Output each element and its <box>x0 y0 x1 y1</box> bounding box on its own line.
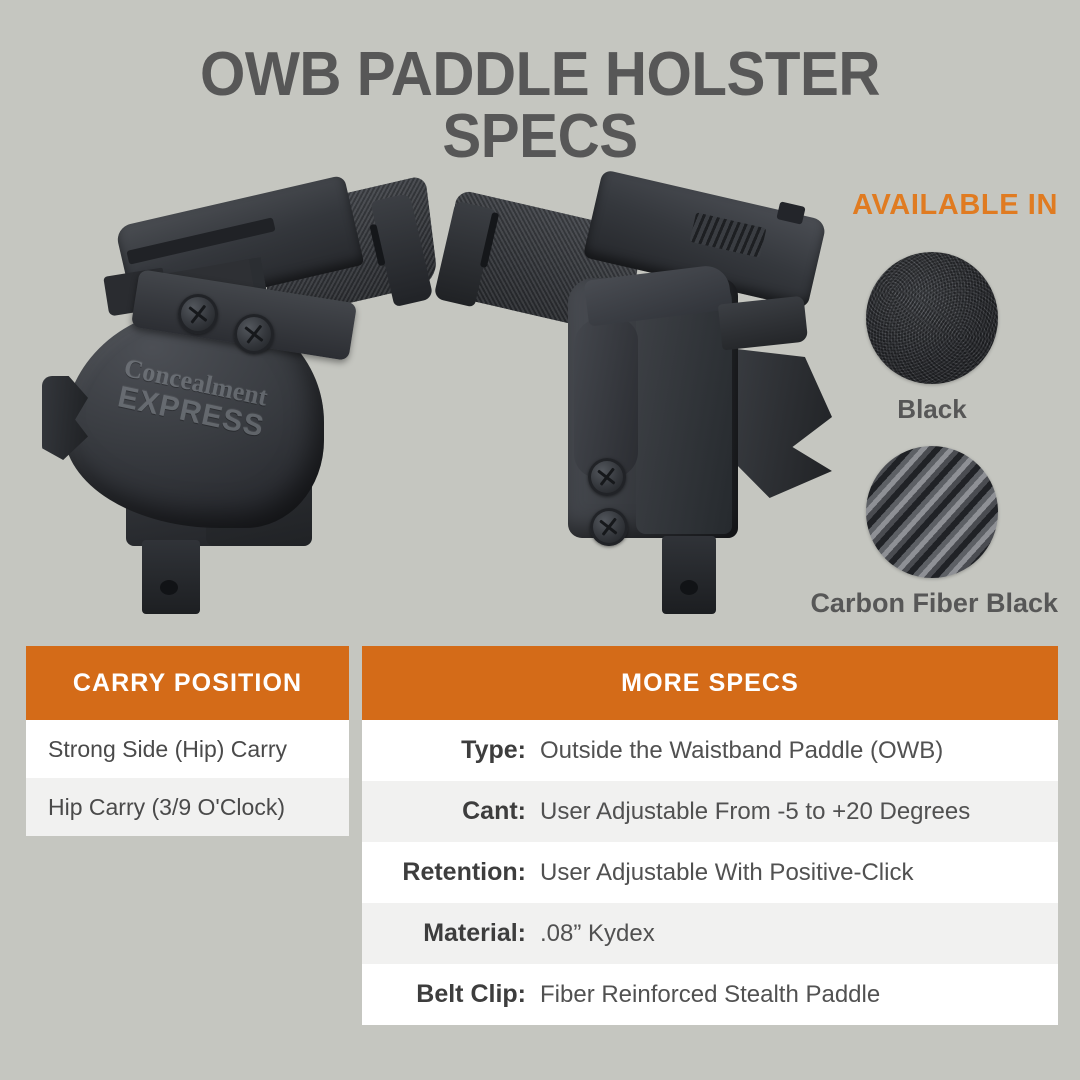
color-swatch-label-black: Black <box>866 394 998 425</box>
more-specs-table: MORE SPECS Type: Outside the Waistband P… <box>362 646 1058 1025</box>
page-title: OWB PADDLE HOLSTER SPECS <box>0 44 1080 168</box>
spec-value-type: Outside the Waistband Paddle (OWB) <box>540 737 943 765</box>
spec-label-retention: Retention: <box>362 858 540 887</box>
belt-clip <box>718 296 808 351</box>
table-row: Material: .08” Kydex <box>362 903 1058 964</box>
color-swatch-label-carbon-fiber-black: Carbon Fiber Black <box>810 588 1058 619</box>
spec-label-belt-clip: Belt Clip: <box>362 980 540 1009</box>
table-row: Retention: User Adjustable With Positive… <box>362 842 1058 903</box>
spec-value-retention: User Adjustable With Positive-Click <box>540 859 913 887</box>
retention-screw-icon <box>234 314 274 354</box>
holster-tail-hole <box>160 580 178 595</box>
carry-position-table: CARRY POSITION Strong Side (Hip) Carry H… <box>26 646 349 836</box>
holster-photo-outside-view: Concealment EXPRESS <box>30 188 430 618</box>
spec-value-material: .08” Kydex <box>540 920 655 948</box>
page-title-line-2: SPECS <box>32 106 1047 168</box>
holster-shell-edge <box>636 284 732 534</box>
spec-value-cant: User Adjustable From -5 to +20 Degrees <box>540 798 970 826</box>
stealth-paddle <box>728 348 832 498</box>
spec-value-belt-clip: Fiber Reinforced Stealth Paddle <box>540 981 880 1009</box>
color-swatch-black[interactable] <box>866 252 998 384</box>
page-title-line-1: OWB PADDLE HOLSTER <box>32 44 1047 106</box>
carry-position-table-header: CARRY POSITION <box>26 646 349 720</box>
available-in-title: AVAILABLE IN <box>758 190 1058 220</box>
holster-tail <box>142 540 200 614</box>
holster-photo-inside-view <box>440 188 830 618</box>
spec-label-material: Material: <box>362 919 540 948</box>
holster-tail <box>662 536 716 614</box>
available-in-section: AVAILABLE IN <box>758 190 1058 220</box>
retention-screw-icon <box>588 458 626 496</box>
table-row: Cant: User Adjustable From -5 to +20 Deg… <box>362 781 1058 842</box>
spec-label-type: Type: <box>362 736 540 765</box>
table-row: Belt Clip: Fiber Reinforced Stealth Padd… <box>362 964 1058 1025</box>
spec-label-cant: Cant: <box>362 797 540 826</box>
table-row: Type: Outside the Waistband Paddle (OWB) <box>362 720 1058 781</box>
retention-screw-icon <box>590 508 628 546</box>
more-specs-table-header: MORE SPECS <box>362 646 1058 720</box>
weapon-light-channel <box>574 318 638 478</box>
holster-tail-hole <box>680 580 698 595</box>
table-row: Strong Side (Hip) Carry <box>26 720 349 778</box>
table-row: Hip Carry (3/9 O'Clock) <box>26 778 349 836</box>
color-swatch-carbon-fiber-black[interactable] <box>866 446 998 578</box>
retention-screw-icon <box>178 294 218 334</box>
